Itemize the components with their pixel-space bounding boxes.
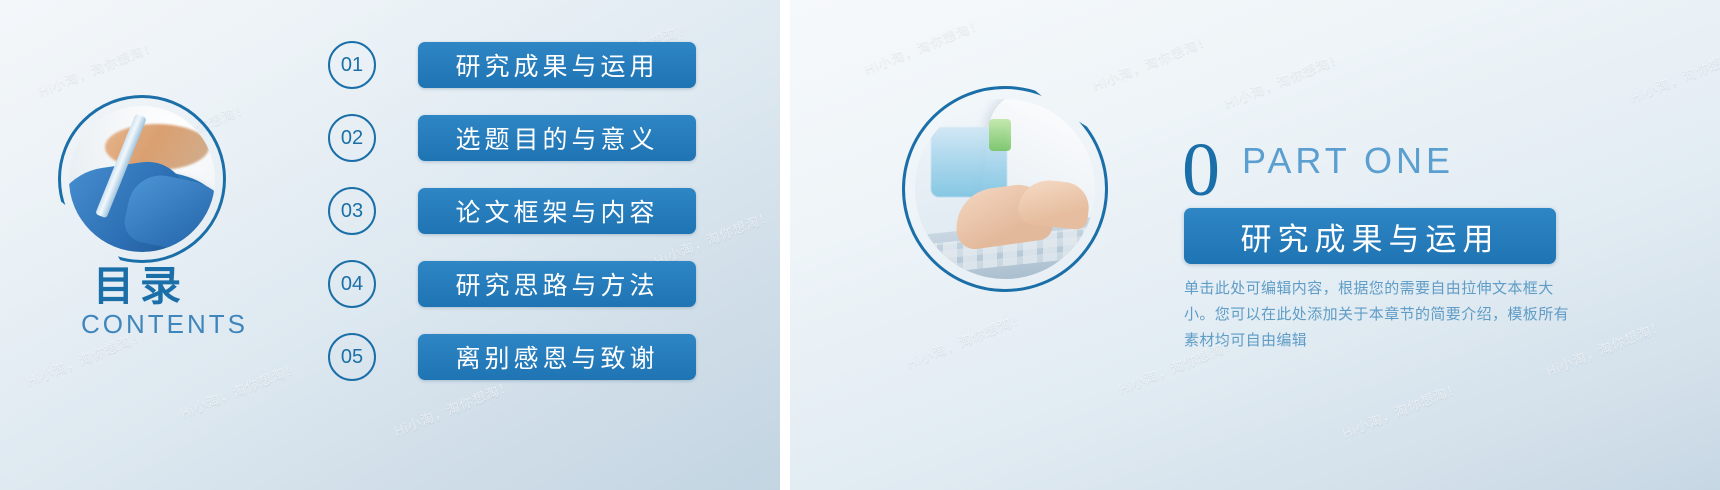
toc-number-02: 02	[328, 114, 376, 162]
part-label: PART ONE	[1242, 140, 1462, 181]
list-item[interactable]: 03 论文框架与内容	[328, 188, 696, 234]
toc-title-cn: 目录	[0, 265, 280, 308]
toc-number-01: 01	[328, 41, 376, 89]
list-item[interactable]: 04 研究思路与方法	[328, 261, 696, 307]
watermark: Hi小淘，淘你想淘！	[35, 35, 159, 100]
toc-number-03: 03	[328, 187, 376, 235]
toc-label-04[interactable]: 研究思路与方法	[418, 261, 696, 307]
watermark: Hi小淘，淘你想淘！	[1089, 29, 1213, 94]
slide-deck: Hi小淘，淘你想淘！ Hi小淘，淘你想淘！ Hi小淘，淘你想淘！ Hi小淘，淘你…	[0, 0, 1720, 490]
slide-section-divider: Hi小淘，淘你想淘！ Hi小淘，淘你想淘！ Hi小淘，淘你想淘！ Hi小淘，淘你…	[790, 0, 1720, 490]
page-title: 目录 CONTENTS	[0, 265, 280, 340]
section-photo	[902, 86, 1108, 292]
toc-label-01[interactable]: 研究成果与运用	[418, 42, 696, 88]
section-description: 单击此处可编辑内容，根据您的需要自由拉伸文本框大小。您可以在此处添加关于本章节的…	[1184, 276, 1574, 353]
watermark: Hi小淘，淘你想淘！	[177, 357, 301, 422]
slide-divider	[780, 0, 790, 490]
list-item[interactable]: 01 研究成果与运用	[328, 42, 696, 88]
toc-label-03[interactable]: 论文框架与内容	[418, 188, 696, 234]
watermark: Hi小淘，淘你想淘！	[903, 307, 1027, 372]
toc-label-05[interactable]: 离别感恩与致谢	[418, 334, 696, 380]
list-item[interactable]: 05 离别感恩与致谢	[328, 334, 696, 380]
toc-photo	[58, 95, 226, 263]
watermark: Hi小淘，淘你想淘！	[861, 13, 985, 78]
watermark: Hi小淘，淘你想淘！	[1627, 41, 1720, 106]
toc-label-02[interactable]: 选题目的与意义	[418, 115, 696, 161]
watermark: Hi小淘，淘你想淘！	[1339, 377, 1463, 442]
list-item[interactable]: 02 选题目的与意义	[328, 115, 696, 161]
watermark: Hi小淘，淘你想淘！	[1221, 47, 1345, 112]
toc-number-05: 05	[328, 333, 376, 381]
toc-number-04: 04	[328, 260, 376, 308]
toc-list: 01 研究成果与运用 02 选题目的与意义 03 论文框架与内容 04 研究思路…	[328, 42, 696, 407]
section-title[interactable]: 研究成果与运用	[1184, 208, 1556, 264]
slide-table-of-contents: Hi小淘，淘你想淘！ Hi小淘，淘你想淘！ Hi小淘，淘你想淘！ Hi小淘，淘你…	[0, 0, 780, 490]
toc-title-en: CONTENTS	[81, 310, 199, 340]
part-number: 0	[1182, 132, 1220, 208]
